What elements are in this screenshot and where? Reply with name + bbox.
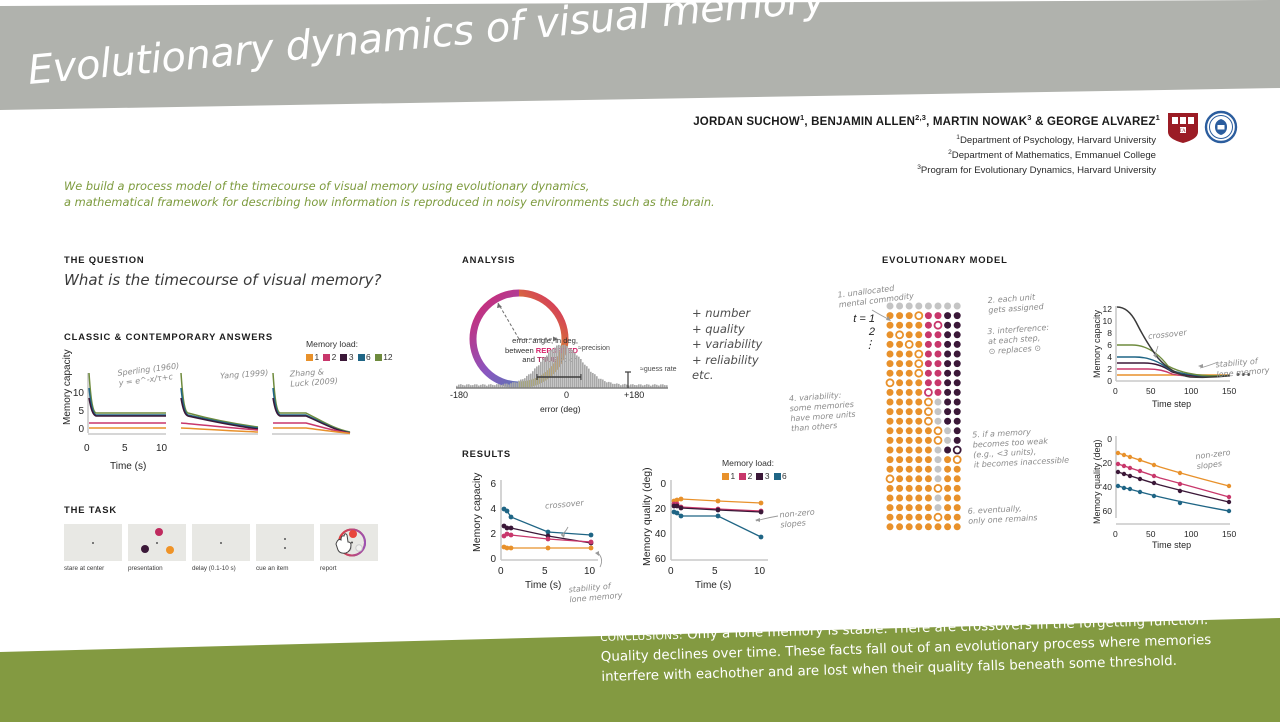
svg-text:5: 5 <box>542 566 548 577</box>
harvard-crest-icon: ITAS <box>1166 110 1200 144</box>
svg-text:0: 0 <box>490 554 496 565</box>
svg-text:100: 100 <box>1184 529 1198 539</box>
property-quality: + quality <box>692 322 762 338</box>
annotation-zhang-luck: Zhang & Luck (2009) <box>289 366 338 389</box>
precision-label: ≈precision <box>578 345 610 352</box>
model-note-6: 6. eventually, only one remains <box>968 503 1038 527</box>
svg-text:60: 60 <box>655 554 667 565</box>
color-wheel-small-icon <box>320 524 378 561</box>
section-heading-task: THE TASK <box>64 504 117 515</box>
svg-text:10: 10 <box>584 566 596 577</box>
task-caption-0: stare at center <box>64 565 104 572</box>
svg-text:20: 20 <box>655 504 667 515</box>
author-list: JORDAN SUCHOW1, BENJAMIN ALLEN2,3, MARTI… <box>640 113 1160 128</box>
model-note-3: 3. interference: at each step, ⊙ replace… <box>987 323 1051 357</box>
chart-results-quality: 0 20 40 60 0 5 10 Time (s) Memory qualit… <box>638 470 788 590</box>
legend-title-results: Memory load: <box>722 458 787 468</box>
guess-rate-label: ≈guess rate <box>640 366 677 373</box>
task-caption-3: cue an item <box>256 565 289 572</box>
svg-text:0: 0 <box>660 479 666 490</box>
svg-text:60: 60 <box>1103 506 1113 516</box>
model-note-2: 2. each unit gets assigned <box>987 292 1044 316</box>
svg-text:10: 10 <box>1103 316 1113 326</box>
svg-text:150: 150 <box>1222 386 1236 396</box>
svg-text:4: 4 <box>1107 352 1112 362</box>
property-etc: etc. <box>692 368 762 384</box>
task-caption-4: report <box>320 565 336 572</box>
hist-tick-pos180: +180 <box>624 390 644 400</box>
svg-text:100: 100 <box>1184 386 1198 396</box>
x-axis-label-results-cap: Time (s) <box>525 580 561 591</box>
university-shield-icon <box>1204 110 1238 144</box>
lede-line-1: We build a process model of the timecour… <box>64 178 824 194</box>
y-axis-label-results-qual: Memory quality (deg) <box>641 467 653 566</box>
model-note-4: 4. variability: some memories have more … <box>789 390 857 434</box>
section-heading-analysis: ANALYSIS <box>462 254 515 265</box>
svg-text:0: 0 <box>1107 434 1112 444</box>
svg-text:0: 0 <box>668 566 674 577</box>
affiliation-3: 3Program for Evolutionary Dynamics, Harv… <box>700 162 1156 177</box>
lede-line-2: a mathematical framework for describing … <box>64 194 824 210</box>
chart-results-capacity: 6 4 2 0 0 5 10 Time (s) Memory capacity <box>468 470 618 590</box>
section-heading-classic: CLASSIC & CONTEMPORARY ANSWERS <box>64 331 273 342</box>
research-question: What is the timecourse of visual memory? <box>64 271 381 289</box>
svg-text:0: 0 <box>498 566 504 577</box>
svg-text:20: 20 <box>1103 458 1113 468</box>
affiliation-list: 1Department of Psychology, Harvard Unive… <box>700 132 1156 176</box>
svg-text:40: 40 <box>1103 482 1113 492</box>
model-note-arrows <box>860 296 990 356</box>
property-reliability: + reliability <box>692 353 762 369</box>
svg-text:8: 8 <box>1107 328 1112 338</box>
svg-text:40: 40 <box>655 529 667 540</box>
svg-text:6: 6 <box>1107 340 1112 350</box>
svg-text:0: 0 <box>1113 529 1118 539</box>
hist-tick-neg180: -180 <box>450 390 468 400</box>
hist-x-axis-label: error (deg) <box>540 404 581 414</box>
svg-text:10: 10 <box>754 566 766 577</box>
conclusions-label: CONCLUSIONS: <box>600 630 683 644</box>
legend-item-12: 12 <box>375 352 393 362</box>
annotation-nonzero-model: non-zero slopes <box>1195 448 1232 472</box>
y-axis-label-results-cap: Memory capacity <box>471 472 483 552</box>
svg-text:5: 5 <box>712 566 718 577</box>
y-axis-label-classic: Memory capacity <box>62 349 73 425</box>
task-frame-delay: delay (0.1-10 s) <box>192 524 250 561</box>
task-filmstrip: stare at center presentation delay (0.1-… <box>64 524 378 561</box>
property-number: + number <box>692 306 762 322</box>
section-heading-results: RESULTS <box>462 448 511 459</box>
svg-text:2: 2 <box>490 529 496 540</box>
lede-paragraph: We build a process model of the timecour… <box>64 178 824 210</box>
svg-text:5: 5 <box>122 443 128 454</box>
y-tick-10: 10 <box>73 388 85 399</box>
svg-text:0: 0 <box>84 443 90 454</box>
svg-text:12: 12 <box>1103 304 1113 314</box>
section-heading-question: THE QUESTION <box>64 254 145 265</box>
annotation-nonzero-results: non-zero slopes <box>779 508 816 531</box>
affiliation-1: 1Department of Psychology, Harvard Unive… <box>700 132 1156 147</box>
svg-text:4: 4 <box>490 504 496 515</box>
svg-text:ITAS: ITAS <box>1178 129 1189 134</box>
model-cap-annotation-arrows <box>1140 330 1250 380</box>
annotation-stability-results: stability of lone memory <box>568 581 623 606</box>
affiliation-2: 2Department of Mathematics, Emmanuel Col… <box>700 147 1156 162</box>
svg-text:6: 6 <box>490 479 496 490</box>
task-caption-2: delay (0.1-10 s) <box>192 565 236 572</box>
legend-title: Memory load: <box>306 339 393 349</box>
x-axis-label-model-qual: Time step <box>1152 540 1191 550</box>
y-tick-5: 5 <box>78 406 84 417</box>
svg-text:50: 50 <box>1146 386 1156 396</box>
svg-text:50: 50 <box>1146 529 1156 539</box>
property-variability: + variability <box>692 337 762 353</box>
section-heading-model: EVOLUTIONARY MODEL <box>882 254 1008 265</box>
svg-text:2: 2 <box>1107 364 1112 374</box>
model-note-5: 5. if a memory becomes too weak (e.g., <… <box>972 426 1069 471</box>
chart-model-quality: 0 20 40 60 0 50 100 150 Time step Memory… <box>1090 428 1265 548</box>
poster-canvas: Evolutionary dynamics of visual memory J… <box>0 0 1280 722</box>
x-axis-label-classic: Time (s) <box>110 461 146 472</box>
task-frame-presentation: presentation <box>128 524 186 561</box>
y-tick-0: 0 <box>78 424 84 435</box>
svg-text:0: 0 <box>1113 386 1118 396</box>
svg-text:150: 150 <box>1222 529 1236 539</box>
x-axis-label-results-qual: Time (s) <box>695 580 731 591</box>
task-frame-cue: cue an item <box>256 524 314 561</box>
task-frame-report: report <box>320 524 378 561</box>
hist-tick-0: 0 <box>564 390 569 400</box>
task-caption-1: presentation <box>128 565 163 572</box>
analysis-property-list: + number + quality + variability + relia… <box>692 306 762 384</box>
svg-text:10: 10 <box>156 443 168 454</box>
y-axis-label-model-qual: Memory quality (deg) <box>1092 439 1102 524</box>
x-axis-label-model-cap: Time step <box>1152 399 1191 409</box>
svg-text:0: 0 <box>1107 376 1112 386</box>
y-axis-label-model-cap: Memory capacity <box>1092 309 1102 378</box>
task-frame-stare: stare at center <box>64 524 122 561</box>
